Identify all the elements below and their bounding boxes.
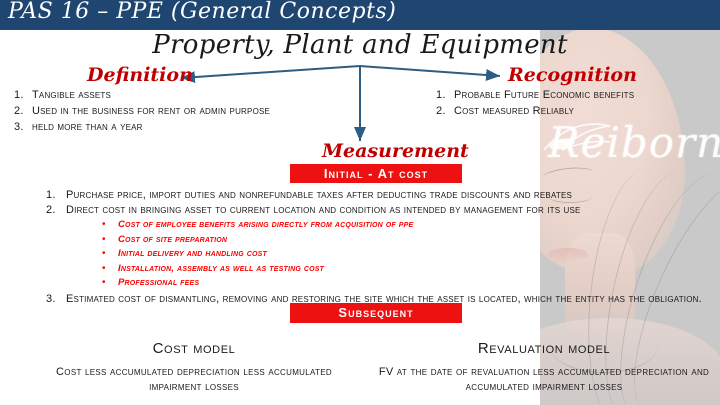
- cost-model-description: Cost less accumulated depreciation less …: [34, 365, 354, 395]
- definition-heading: Definition: [87, 64, 193, 86]
- list-item-number: 1.: [46, 189, 66, 201]
- bullet-icon: •: [102, 263, 118, 275]
- list-item-text: Cost measured Reliably: [454, 105, 720, 117]
- sub-list-item: • Installation, assembly as well as test…: [102, 263, 706, 275]
- slide-canvas: PAS 16 – PPE (General Concepts) Reiborn …: [0, 0, 720, 405]
- list-item-text: Purchase price, import duties and nonref…: [66, 189, 706, 201]
- list-item-number: 3.: [46, 293, 66, 305]
- bullet-icon: •: [102, 219, 118, 231]
- direct-cost-sublist: • Cost of employee benefits arising dire…: [102, 219, 706, 289]
- list-item-text: Probable Future Economic benefits: [454, 89, 720, 101]
- revaluation-model-description: FV at the date of revaluation less accum…: [378, 365, 710, 395]
- bullet-icon: •: [102, 277, 118, 289]
- definition-list: 1. Tangible assets 2. Used in the busine…: [14, 89, 344, 137]
- revaluation-model-block: Revaluation model FV at the date of reva…: [378, 340, 710, 395]
- bullet-icon: •: [102, 234, 118, 246]
- measurement-heading: Measurement: [322, 140, 469, 162]
- list-item: 1. Purchase price, import duties and non…: [46, 189, 706, 201]
- recognition-heading: Recognition: [508, 64, 637, 86]
- list-item: 2. Used in the business for rent or admi…: [14, 105, 344, 117]
- sub-list-item-text: Installation, assembly as well as testin…: [118, 263, 324, 274]
- list-item: 1. Probable Future Economic benefits: [436, 89, 720, 101]
- list-item-number: 3.: [14, 121, 32, 133]
- bullet-icon: •: [102, 248, 118, 260]
- sub-list-item-text: Initial delivery and handling cost: [118, 248, 267, 259]
- sub-list-item-text: Cost of site preparation: [118, 234, 227, 245]
- revaluation-model-title: Revaluation model: [378, 340, 710, 357]
- list-item: 2. Direct cost in bringing asset to curr…: [46, 204, 706, 216]
- cost-model-title: Cost model: [34, 340, 354, 357]
- initial-measurement-list: 1. Purchase price, import duties and non…: [46, 189, 706, 308]
- subsequent-banner: Subsequent: [290, 303, 462, 323]
- list-item: 2. Cost measured Reliably: [436, 105, 720, 117]
- list-item-number: 1.: [14, 89, 32, 101]
- list-item-text: held more than a year: [32, 121, 344, 133]
- list-item: 3. held more than a year: [14, 121, 344, 133]
- initial-at-cost-banner: Initial - At cost: [290, 164, 462, 183]
- sub-list-item: • Cost of site preparation: [102, 234, 706, 246]
- sub-list-item: • Cost of employee benefits arising dire…: [102, 219, 706, 231]
- list-item-text: Direct cost in bringing asset to current…: [66, 204, 706, 216]
- list-item-text: Used in the business for rent or admin p…: [32, 105, 344, 117]
- list-item-text: Tangible assets: [32, 89, 344, 101]
- sub-list-item: • Professional fees: [102, 277, 706, 289]
- sub-list-item-text: Professional fees: [118, 277, 199, 288]
- list-item-number: 2.: [436, 105, 454, 117]
- recognition-list: 1. Probable Future Economic benefits 2. …: [436, 89, 720, 121]
- list-item-number: 2.: [14, 105, 32, 117]
- list-item-number: 2.: [46, 204, 66, 216]
- sub-list-item: • Initial delivery and handling cost: [102, 248, 706, 260]
- list-item: 1. Tangible assets: [14, 89, 344, 101]
- cost-model-block: Cost model Cost less accumulated depreci…: [34, 340, 354, 395]
- list-item-number: 1.: [436, 89, 454, 101]
- sub-list-item-text: Cost of employee benefits arising direct…: [118, 219, 413, 230]
